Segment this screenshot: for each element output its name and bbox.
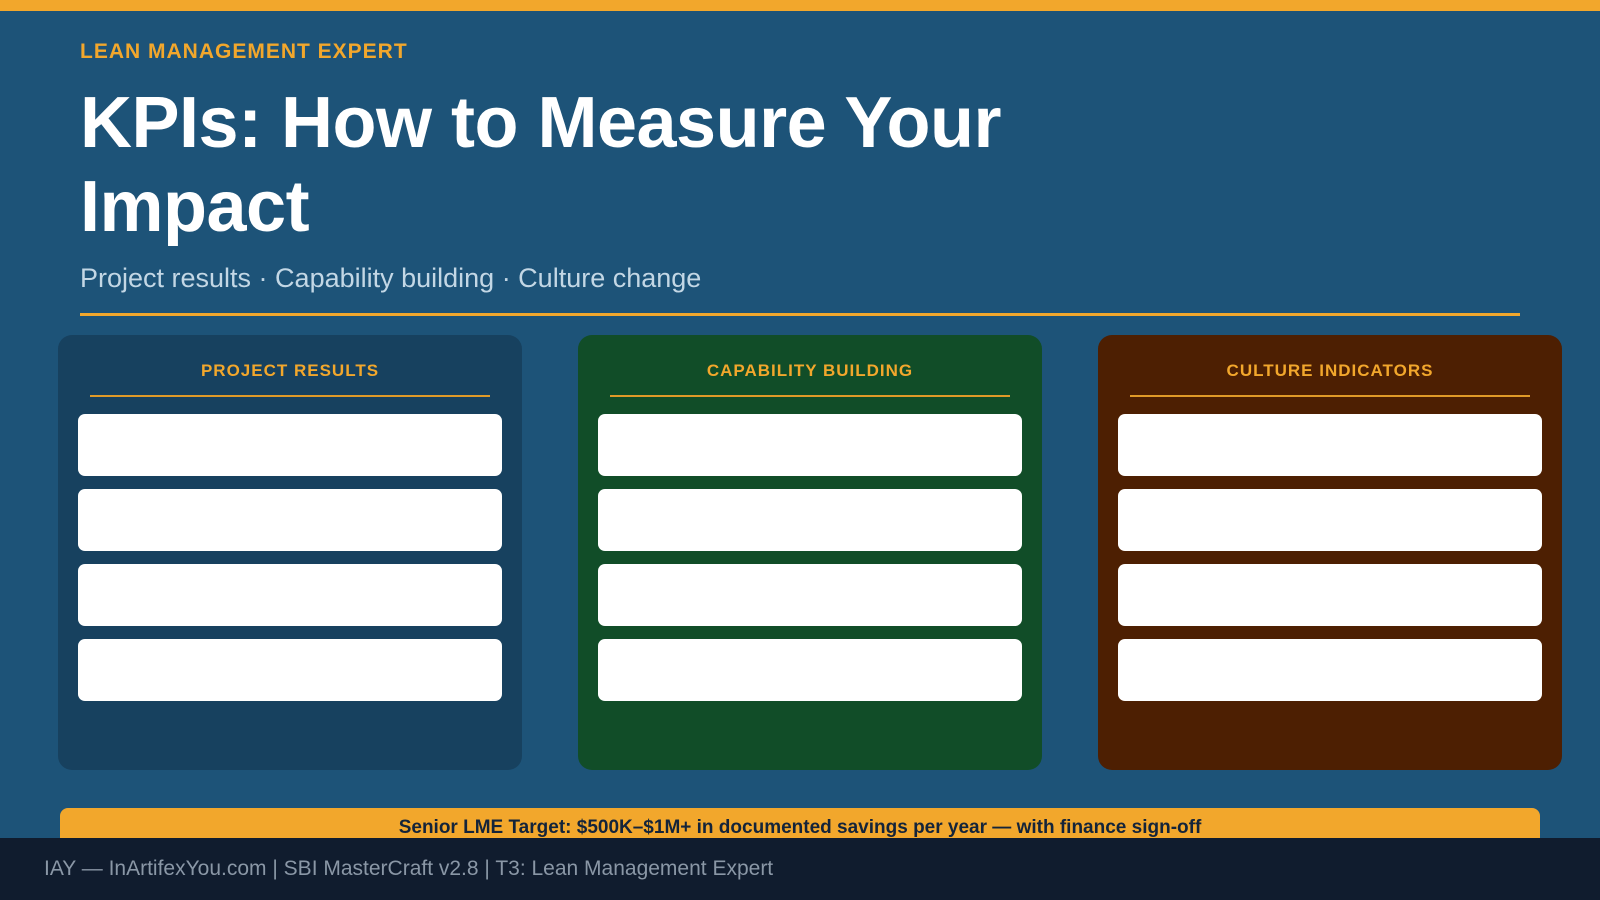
kpi-card-culture-indicators[interactable]: CULTURE INDICATORS — [1098, 335, 1562, 770]
footer-bar: IAY — InArtifexYou.com | SBI MasterCraft… — [0, 838, 1600, 900]
kpi-card-title: CULTURE INDICATORS — [1118, 361, 1542, 381]
kpi-card-divider — [1130, 395, 1530, 397]
list-item[interactable] — [1118, 414, 1542, 476]
kpi-card-rows — [1118, 414, 1542, 701]
kpi-card-rows — [598, 414, 1022, 701]
list-item[interactable] — [78, 564, 502, 626]
kpi-card-title: PROJECT RESULTS — [78, 361, 502, 381]
top-accent-bar — [0, 0, 1600, 11]
page-subtitle: Project results · Capability building · … — [80, 261, 1520, 296]
list-item[interactable] — [598, 564, 1022, 626]
kpi-card-divider — [610, 395, 1010, 397]
list-item[interactable] — [1118, 489, 1542, 551]
kpi-card-divider — [90, 395, 490, 397]
list-item[interactable] — [1118, 639, 1542, 701]
kpi-card-capability-building[interactable]: CAPABILITY BUILDING — [578, 335, 1042, 770]
list-item[interactable] — [1118, 564, 1542, 626]
list-item[interactable] — [598, 414, 1022, 476]
footer-attribution: IAY — InArtifexYou.com | SBI MasterCraft… — [44, 856, 773, 881]
list-item[interactable] — [78, 639, 502, 701]
slide-body: LEAN MANAGEMENT EXPERT KPIs: How to Meas… — [0, 11, 1600, 838]
list-item[interactable] — [78, 489, 502, 551]
page-title: KPIs: How to Measure Your Impact — [80, 82, 1080, 249]
eyebrow-label: LEAN MANAGEMENT EXPERT — [80, 39, 1520, 64]
header-divider — [80, 313, 1520, 316]
slide-header: LEAN MANAGEMENT EXPERT KPIs: How to Meas… — [80, 39, 1520, 316]
kpi-card-rows — [78, 414, 502, 701]
list-item[interactable] — [598, 639, 1022, 701]
target-callout-text: Senior LME Target: $500K–$1M+ in documen… — [399, 817, 1202, 840]
kpi-card-project-results[interactable]: PROJECT RESULTS — [58, 335, 522, 770]
list-item[interactable] — [78, 414, 502, 476]
kpi-columns: PROJECT RESULTS CAPABILITY BUILDING CULT… — [58, 335, 1562, 770]
kpi-card-title: CAPABILITY BUILDING — [598, 361, 1022, 381]
list-item[interactable] — [598, 489, 1022, 551]
